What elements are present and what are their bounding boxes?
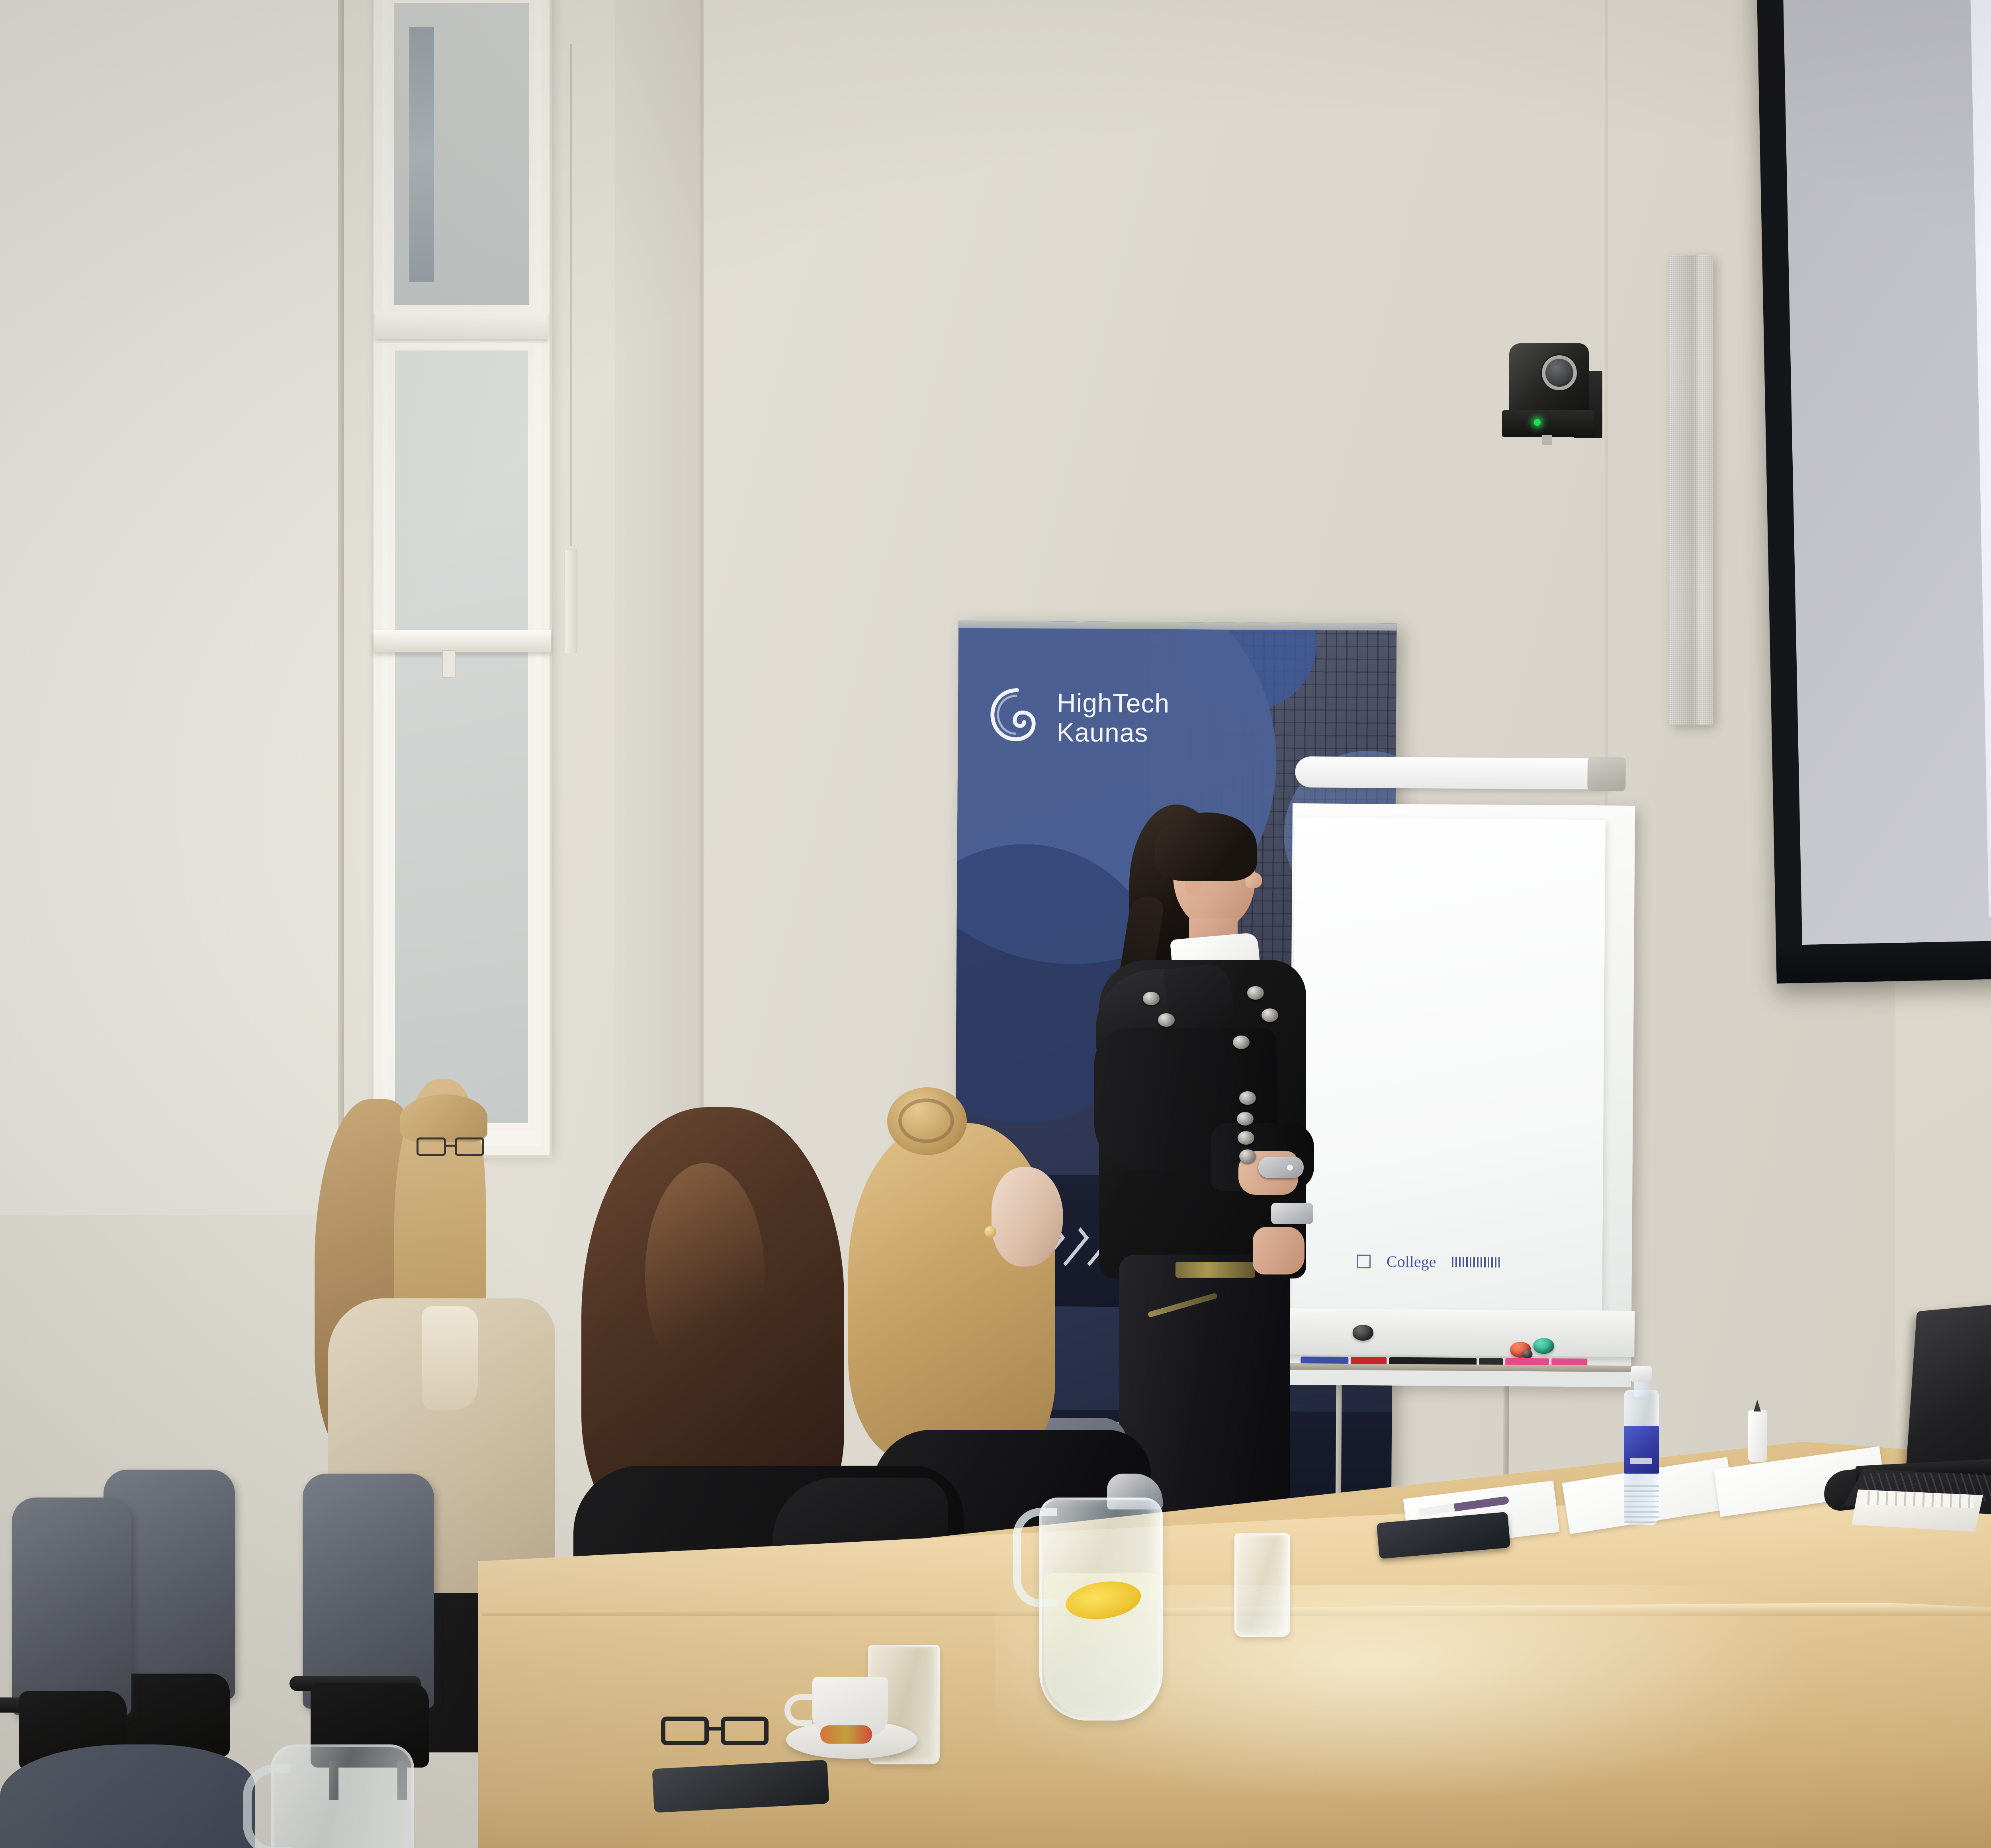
bottle-cap[interactable] [1631,1366,1652,1382]
photo-scene: Pagrindinės veiklos: •Personalo paieška,… [0,0,1991,1848]
projection-screen: Pagrindinės veiklos: •Personalo paieška,… [1755,0,1991,983]
camera-mount-screw [1542,435,1552,445]
flipchart-roll-cap [1587,757,1626,791]
bottle-ribs [1624,1482,1659,1523]
ptz-camera [1497,339,1613,445]
flipchart-paper-roll [1295,756,1614,790]
earring [984,1226,996,1238]
bottle-label [1624,1426,1659,1474]
magnet[interactable] [1533,1338,1554,1354]
water-pitcher[interactable] [1039,1474,1163,1721]
window-middle-rail [375,311,548,339]
attendee-scarf [422,1306,478,1410]
camera-lens-icon [1542,355,1577,390]
cup-handle [784,1694,812,1726]
flipchart-brand: College [1357,1252,1500,1272]
flipchart-brand-label: College [1387,1252,1436,1271]
pitcher-body [271,1744,414,1848]
attendee-hair-front [400,1094,487,1142]
window-lower-sash [388,343,535,1130]
window-latch[interactable] [442,650,456,678]
plastic-cup[interactable] [1234,1533,1290,1637]
wall-corner-edge [338,0,344,1227]
pitcher-spout [1107,1474,1163,1509]
wall-column-shadow [615,0,703,1199]
laptop[interactable] [1840,1306,1991,1521]
wall-column-speaker [1669,255,1713,725]
wall-crack [570,44,572,546]
attendee-face [992,1167,1063,1267]
wall-left-section [0,0,342,1215]
projected-slide: Pagrindinės veiklos: •Personalo paieška,… [1969,0,1991,917]
window-upper-sash [388,0,535,311]
flipchart: College [1287,771,1643,1527]
eyeglasses-on-table[interactable] [661,1705,769,1752]
magnet[interactable] [1353,1325,1373,1341]
wall-switch-plate[interactable] [565,550,577,653]
speaker-seam [1695,255,1696,725]
window-glass-reflection [409,27,434,282]
camera-status-led [1534,419,1541,426]
hightech-kaunas-logo-icon [989,685,1045,745]
eyeglasses-icon [417,1137,489,1157]
wrapped-candy[interactable] [820,1725,872,1744]
wall-seam [700,0,704,1195]
foreground-chair-back [0,1744,255,1848]
flipchart-board [1289,803,1635,1387]
flipchart-barcode-icon [1452,1257,1500,1267]
chair-back [303,1474,434,1709]
banner-logo-line1: HighTech [1057,688,1170,718]
interior-window [374,0,550,1155]
water-bottle[interactable] [1624,1366,1659,1525]
flipchart-pen-tray [1284,1308,1635,1357]
speaker-grille [1669,255,1713,725]
window-sill [374,630,551,652]
flipchart-brand-icon [1357,1255,1371,1268]
banner-logo-line2: Kaunas [1056,718,1170,748]
mobile-phone[interactable] [652,1760,829,1813]
attendee-hair-highlight [645,1163,765,1386]
projection-screen-surface: Pagrindinės veiklos: •Personalo paieška,… [1782,0,1991,945]
water-pitcher[interactable] [271,1744,414,1848]
banner-logo-text: HighTech Kaunas [1056,688,1170,748]
chair-back [12,1498,131,1715]
whiteboard-marker[interactable] [1748,1410,1767,1462]
camera-base [1502,410,1594,437]
external-keyboard[interactable] [1852,1490,1983,1532]
